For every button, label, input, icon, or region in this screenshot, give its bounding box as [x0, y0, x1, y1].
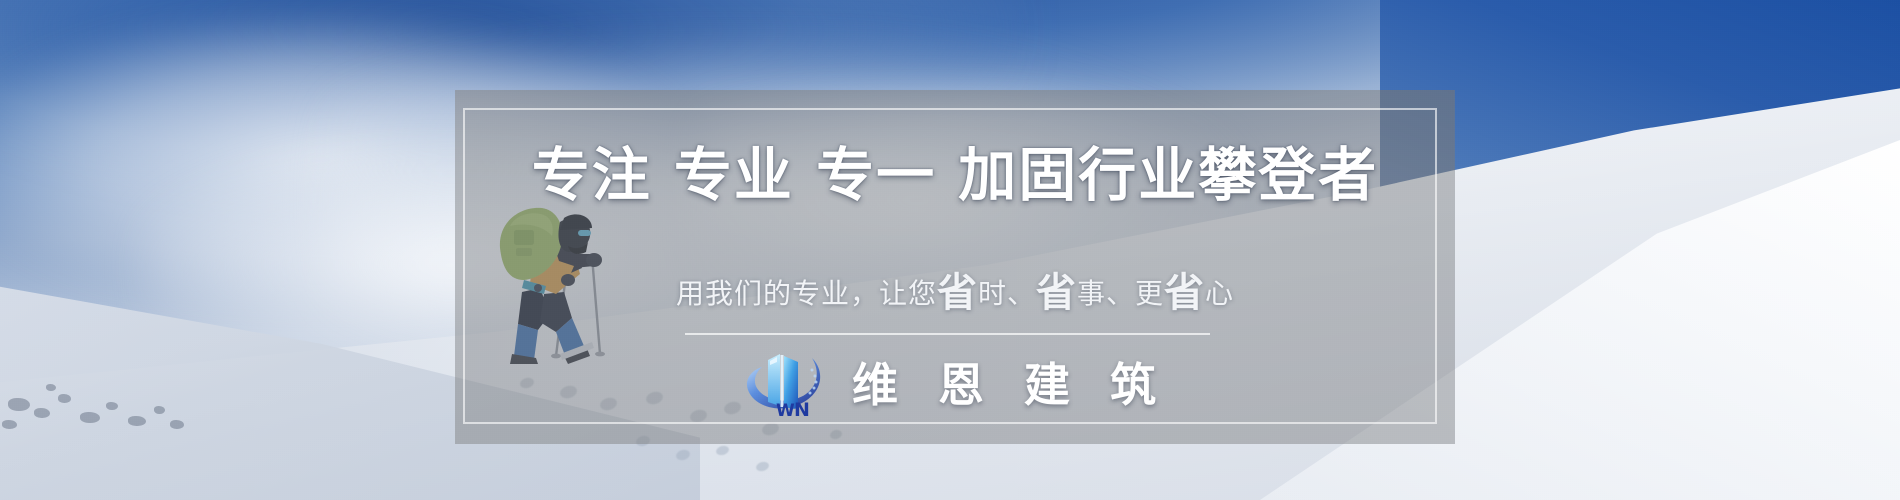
hero-banner: 专注 专业 专一 加固行业攀登者 用我们的专业，让您省时、省事、更省心: [0, 0, 1900, 500]
film-grain-overlay: [0, 0, 1900, 500]
